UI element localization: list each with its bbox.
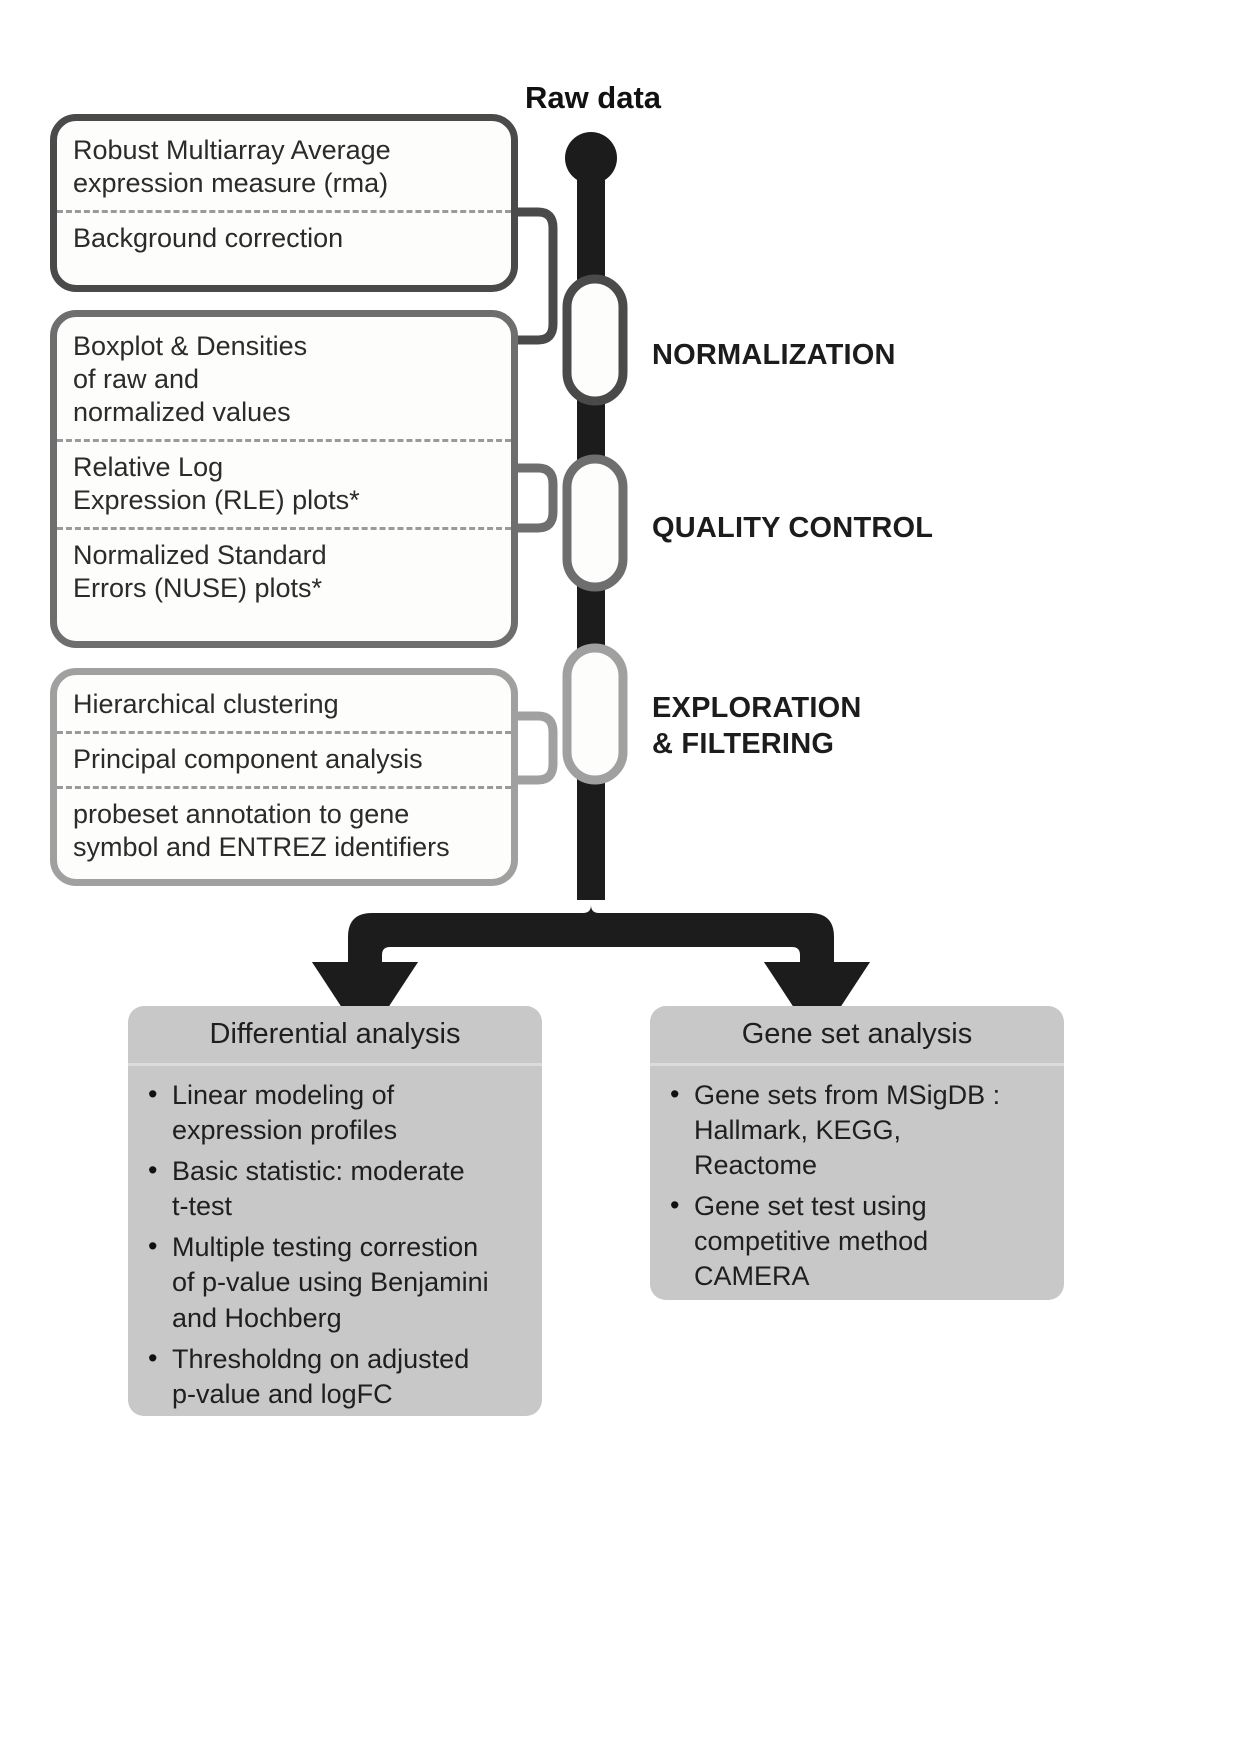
outcome-item-list: Linear modeling of expression profiles B… bbox=[128, 1066, 542, 1436]
stage-capsule-quality-control bbox=[567, 459, 623, 587]
stage-label-normalization: NORMALIZATION bbox=[652, 337, 896, 373]
stage-row: Robust Multiarray Average expression mea… bbox=[57, 125, 511, 210]
outcome-panel-title: Differential analysis bbox=[128, 1006, 542, 1066]
list-item: Thresholdng on adjusted p-value and logF… bbox=[142, 1342, 528, 1412]
connector-exploration bbox=[518, 716, 553, 780]
workflow-diagram: Raw data bbox=[0, 0, 1240, 1753]
stage-row: Background correction bbox=[57, 210, 511, 265]
outcome-item-list: Gene sets from MSigDB : Hallmark, KEGG, … bbox=[650, 1066, 1064, 1319]
outcome-panel-geneset: Gene set analysis Gene sets from MSigDB … bbox=[650, 1006, 1064, 1300]
stage-label-exploration: EXPLORATION & FILTERING bbox=[652, 690, 862, 763]
stage-capsule-normalization bbox=[567, 279, 623, 401]
connector-normalization bbox=[518, 212, 553, 340]
page-title: Raw data bbox=[478, 80, 708, 116]
stage-detail-box-exploration: Hierarchical clustering Principal compon… bbox=[50, 668, 518, 886]
stage-row: Relative Log Expression (RLE) plots* bbox=[57, 439, 511, 527]
stage-detail-box-normalization: Robust Multiarray Average expression mea… bbox=[50, 114, 518, 292]
stage-row: Normalized Standard Errors (NUSE) plots* bbox=[57, 527, 511, 615]
stage-capsule-exploration bbox=[567, 648, 623, 780]
connector-quality-control bbox=[518, 468, 553, 528]
outcome-panel-title: Gene set analysis bbox=[650, 1006, 1064, 1066]
stage-row: Boxplot & Densities of raw and normalize… bbox=[57, 321, 511, 439]
stage-row: Principal component analysis bbox=[57, 731, 511, 786]
stage-row-list: Boxplot & Densities of raw and normalize… bbox=[57, 317, 511, 621]
stage-row: probeset annotation to gene symbol and E… bbox=[57, 786, 511, 874]
list-item: Basic statistic: moderate t-test bbox=[142, 1154, 528, 1224]
outcome-panel-differential: Differential analysis Linear modeling of… bbox=[128, 1006, 542, 1416]
raw-data-node bbox=[565, 132, 617, 184]
stage-row: Hierarchical clustering bbox=[57, 679, 511, 731]
stage-label-quality-control: QUALITY CONTROL bbox=[652, 510, 933, 546]
spine-trunk bbox=[565, 132, 617, 900]
list-item: Linear modeling of expression profiles bbox=[142, 1078, 528, 1148]
list-item: Gene set test using competitive method C… bbox=[664, 1189, 1050, 1294]
list-item: Multiple testing correstion of p-value u… bbox=[142, 1230, 528, 1335]
list-item: Gene sets from MSigDB : Hallmark, KEGG, … bbox=[664, 1078, 1050, 1183]
stage-row-list: Hierarchical clustering Principal compon… bbox=[57, 675, 511, 880]
stage-row-list: Robust Multiarray Average expression mea… bbox=[57, 121, 511, 271]
stage-detail-box-quality-control: Boxplot & Densities of raw and normalize… bbox=[50, 310, 518, 648]
